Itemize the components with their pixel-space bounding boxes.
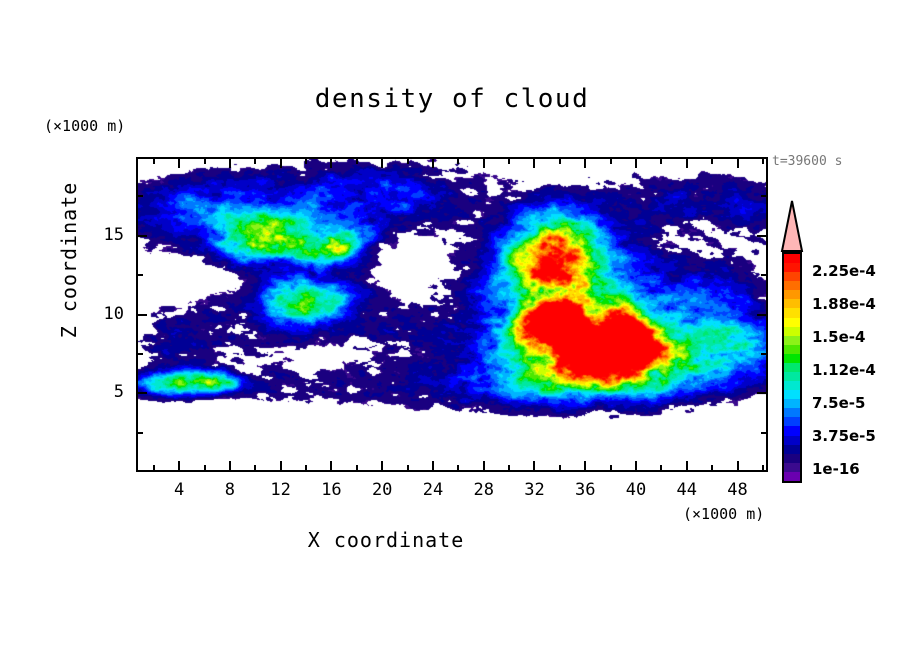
colorbar-band: [784, 354, 800, 363]
colorbar-band: [784, 363, 800, 372]
y-axis-major-tick-right: [757, 314, 766, 316]
x-axis-major-tick: [229, 461, 231, 470]
x-axis-tick-label: 40: [616, 480, 656, 500]
x-axis-major-tick-top: [584, 159, 586, 168]
chart-title: density of cloud: [0, 84, 904, 114]
x-axis-major-tick-top: [381, 159, 383, 168]
x-axis-major-tick: [686, 461, 688, 470]
y-axis-major-tick: [138, 392, 147, 394]
x-axis-minor-tick-top: [559, 159, 561, 164]
x-axis-major-tick: [381, 461, 383, 470]
x-axis-major-tick-top: [432, 159, 434, 168]
colorbar-band: [784, 372, 800, 381]
colorbar-band: [784, 436, 800, 445]
y-axis-minor-tick: [138, 432, 143, 434]
y-axis-tick-label: 10: [84, 304, 124, 324]
x-axis-title: X coordinate: [0, 528, 772, 552]
y-axis-tick-label: 5: [84, 382, 124, 402]
x-axis-minor-tick-top: [356, 159, 358, 164]
colorbar-band: [784, 472, 800, 481]
x-axis-major-tick: [483, 461, 485, 470]
x-axis-minor-tick: [559, 465, 561, 470]
x-axis-tick-label: 4: [159, 480, 199, 500]
colorbar-band: [784, 308, 800, 317]
colorbar-tick-label: 2.25e-4: [812, 262, 876, 280]
colorbar-over-arrow: [779, 200, 805, 252]
colorbar-band: [784, 263, 800, 272]
x-axis-tick-label: 24: [413, 480, 453, 500]
x-axis-minor-tick: [508, 465, 510, 470]
y-axis-major-tick-right: [757, 392, 766, 394]
x-axis-minor-tick: [356, 465, 358, 470]
colorbar-band: [784, 327, 800, 336]
x-axis-minor-tick-top: [610, 159, 612, 164]
x-axis-major-tick: [533, 461, 535, 470]
y-axis-title: Z coordinate: [57, 170, 81, 350]
y-axis-unit-label: (×1000 m): [44, 117, 125, 135]
x-axis-minor-tick: [610, 465, 612, 470]
colorbar-band: [784, 318, 800, 327]
x-axis-major-tick-top: [533, 159, 535, 168]
x-axis-major-tick: [178, 461, 180, 470]
colorbar-band: [784, 463, 800, 472]
colorbar-band: [784, 426, 800, 435]
x-axis-tick-label: 20: [362, 480, 402, 500]
colorbar-tick-label: 1.5e-4: [812, 328, 865, 346]
colorbar-tick-label: 1.88e-4: [812, 295, 876, 313]
x-axis-minor-tick: [660, 465, 662, 470]
y-axis-minor-tick-right: [761, 274, 766, 276]
colorbar-band: [784, 345, 800, 354]
colorbar-band: [784, 299, 800, 308]
x-axis-major-tick-top: [686, 159, 688, 168]
x-axis-minor-tick: [762, 465, 764, 470]
x-axis-major-tick-top: [229, 159, 231, 168]
x-axis-tick-label: 8: [210, 480, 250, 500]
x-axis-minor-tick: [204, 465, 206, 470]
colorbar-band: [784, 272, 800, 281]
x-axis-major-tick-top: [635, 159, 637, 168]
x-axis-minor-tick-top: [305, 159, 307, 164]
colorbar-tick-label: 1e-16: [812, 460, 860, 478]
colorbar-band: [784, 454, 800, 463]
x-axis-major-tick: [737, 461, 739, 470]
x-axis-tick-label: 36: [565, 480, 605, 500]
simulation-time-annotation: t=39600 s: [772, 154, 842, 169]
x-axis-minor-tick-top: [508, 159, 510, 164]
x-axis-minor-tick: [153, 465, 155, 470]
colorbar-band: [784, 408, 800, 417]
x-axis-minor-tick: [305, 465, 307, 470]
x-axis-major-tick-top: [483, 159, 485, 168]
colorbar-band: [784, 417, 800, 426]
colorbar-gradient: [782, 252, 802, 483]
x-axis-minor-tick-top: [762, 159, 764, 164]
x-axis-minor-tick-top: [254, 159, 256, 164]
y-axis-minor-tick: [138, 353, 143, 355]
x-axis-major-tick: [280, 461, 282, 470]
x-axis-major-tick: [432, 461, 434, 470]
x-axis-major-tick-top: [330, 159, 332, 168]
x-axis-minor-tick: [711, 465, 713, 470]
x-axis-minor-tick-top: [660, 159, 662, 164]
colorbar-band: [784, 445, 800, 454]
density-field-image: [138, 159, 766, 470]
x-axis-tick-label: 12: [261, 480, 301, 500]
colorbar-band: [784, 290, 800, 299]
colorbar: [779, 200, 805, 485]
y-axis-minor-tick-right: [761, 432, 766, 434]
y-axis-minor-tick-right: [761, 195, 766, 197]
y-axis-tick-label: 15: [84, 225, 124, 245]
colorbar-band: [784, 336, 800, 345]
x-axis-tick-label: 48: [718, 480, 758, 500]
x-axis-tick-label: 16: [311, 480, 351, 500]
colorbar-band: [784, 399, 800, 408]
x-axis-unit-label: (×1000 m): [683, 505, 764, 523]
x-axis-major-tick-top: [178, 159, 180, 168]
x-axis-minor-tick-top: [457, 159, 459, 164]
x-axis-tick-label: 28: [464, 480, 504, 500]
x-axis-major-tick: [635, 461, 637, 470]
figure-canvas: density of cloud (×1000 m) (×1000 m) X c…: [0, 0, 904, 654]
y-axis-major-tick: [138, 314, 147, 316]
contour-plot-panel: [136, 157, 768, 472]
colorbar-tick-label: 1.12e-4: [812, 361, 876, 379]
x-axis-minor-tick: [407, 465, 409, 470]
y-axis-major-tick-right: [757, 235, 766, 237]
x-axis-tick-label: 44: [667, 480, 707, 500]
x-axis-major-tick: [584, 461, 586, 470]
x-axis-minor-tick-top: [153, 159, 155, 164]
x-axis-minor-tick: [457, 465, 459, 470]
x-axis-minor-tick-top: [204, 159, 206, 164]
colorbar-band: [784, 390, 800, 399]
y-axis-minor-tick: [138, 274, 143, 276]
y-axis-major-tick: [138, 235, 147, 237]
colorbar-band: [784, 381, 800, 390]
colorbar-band: [784, 254, 800, 263]
x-axis-major-tick: [330, 461, 332, 470]
y-axis-minor-tick: [138, 195, 143, 197]
y-axis-minor-tick-right: [761, 353, 766, 355]
colorbar-tick-label: 3.75e-5: [812, 427, 876, 445]
x-axis-major-tick-top: [280, 159, 282, 168]
x-axis-major-tick-top: [737, 159, 739, 168]
colorbar-band: [784, 281, 800, 290]
x-axis-tick-label: 32: [514, 480, 554, 500]
x-axis-minor-tick: [254, 465, 256, 470]
colorbar-tick-label: 7.5e-5: [812, 394, 865, 412]
x-axis-minor-tick-top: [711, 159, 713, 164]
x-axis-minor-tick-top: [407, 159, 409, 164]
